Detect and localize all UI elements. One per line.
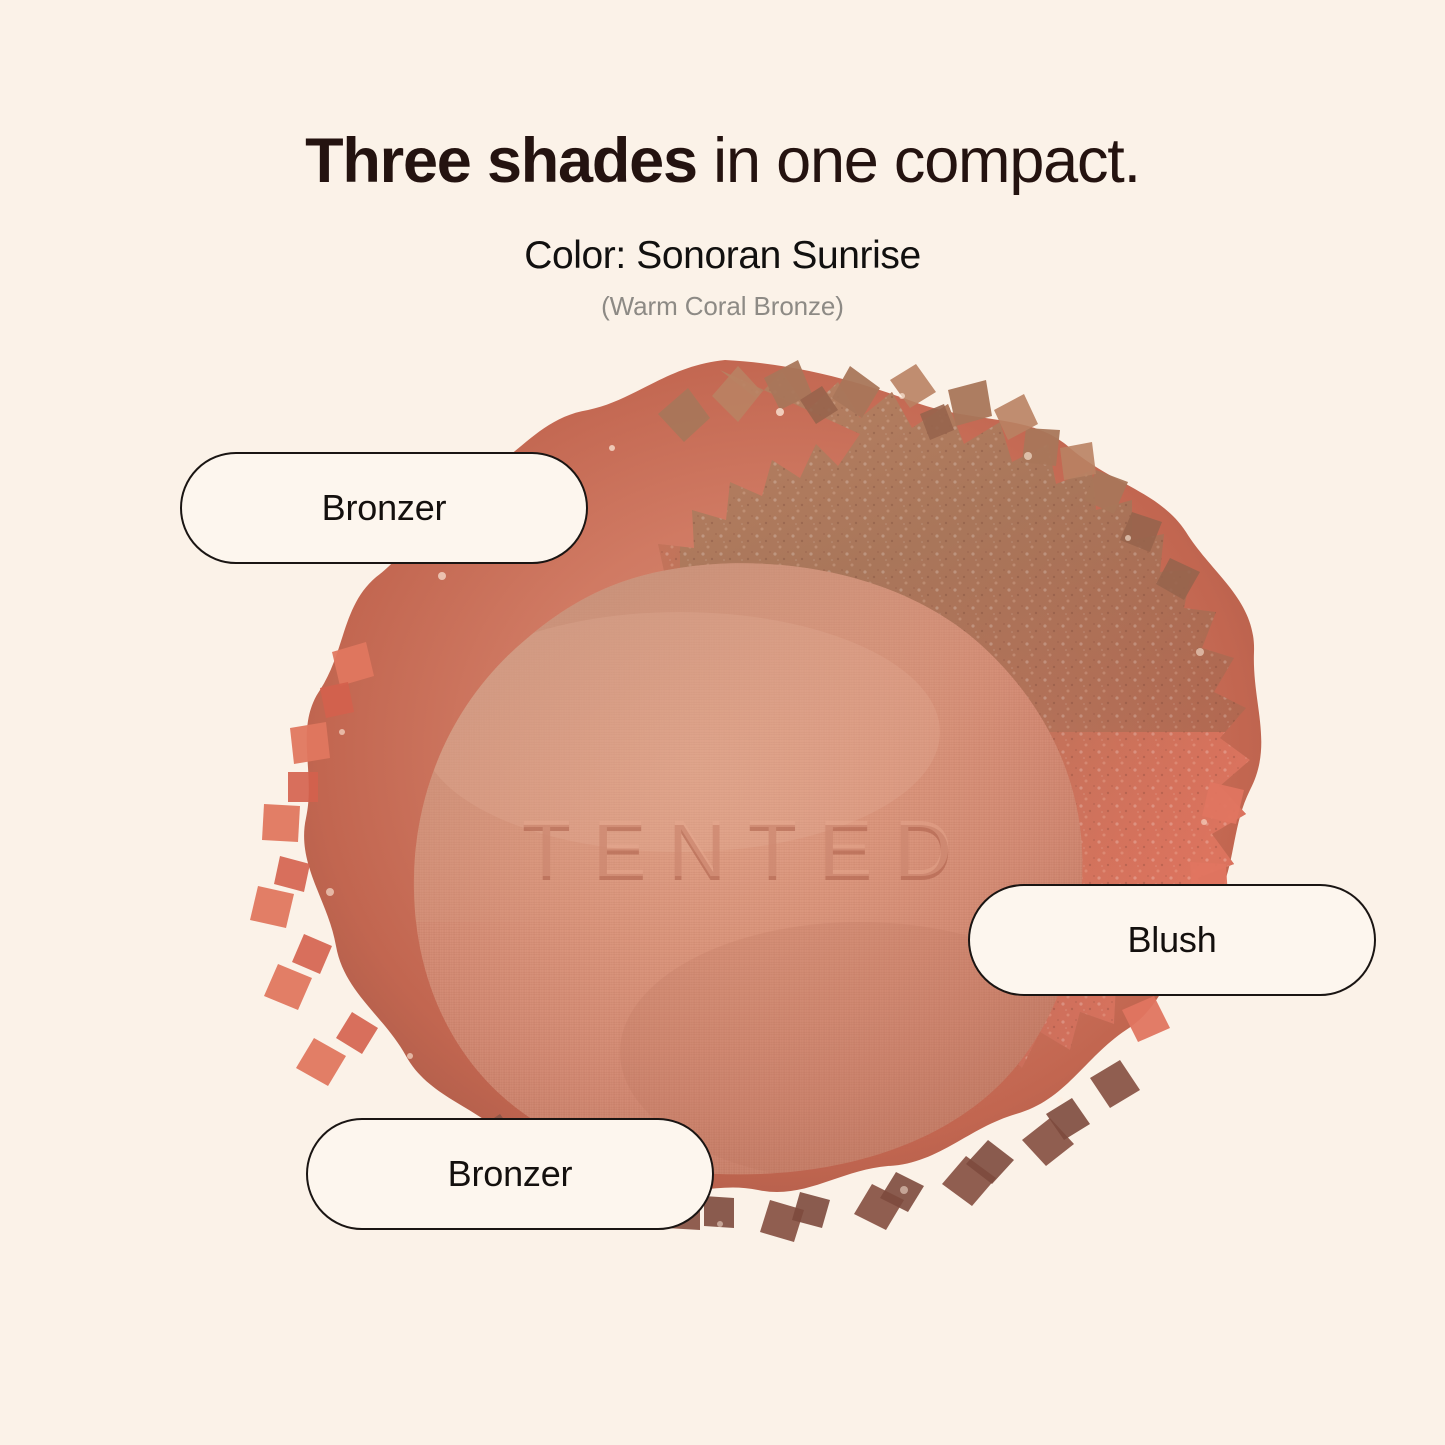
svg-text:TENTED: TENTED — [522, 804, 974, 893]
header-block: Three shades in one compact. Color: Sono… — [0, 128, 1445, 322]
callout-pill-bronzer-top[interactable]: Bronzer — [180, 452, 588, 564]
headline-remainder: in one compact. — [697, 126, 1140, 196]
callout-pill-blush[interactable]: Blush — [968, 884, 1376, 996]
callout-label: Bronzer — [448, 1153, 573, 1195]
callout-pill-bronzer-bottom[interactable]: Bronzer — [306, 1118, 714, 1230]
page-title: Three shades in one compact. — [0, 128, 1445, 195]
headline-emphasis: Three shades — [305, 126, 697, 196]
callout-label: Blush — [1127, 919, 1216, 961]
product-callout-graphic: Three shades in one compact. Color: Sono… — [0, 0, 1445, 1445]
color-name-label: Color: Sonoran Sunrise — [0, 235, 1445, 278]
embossed-brand-logo: TENTED TENTED — [522, 804, 974, 897]
callout-label: Bronzer — [322, 487, 447, 529]
color-description-label: (Warm Coral Bronze) — [0, 291, 1445, 322]
